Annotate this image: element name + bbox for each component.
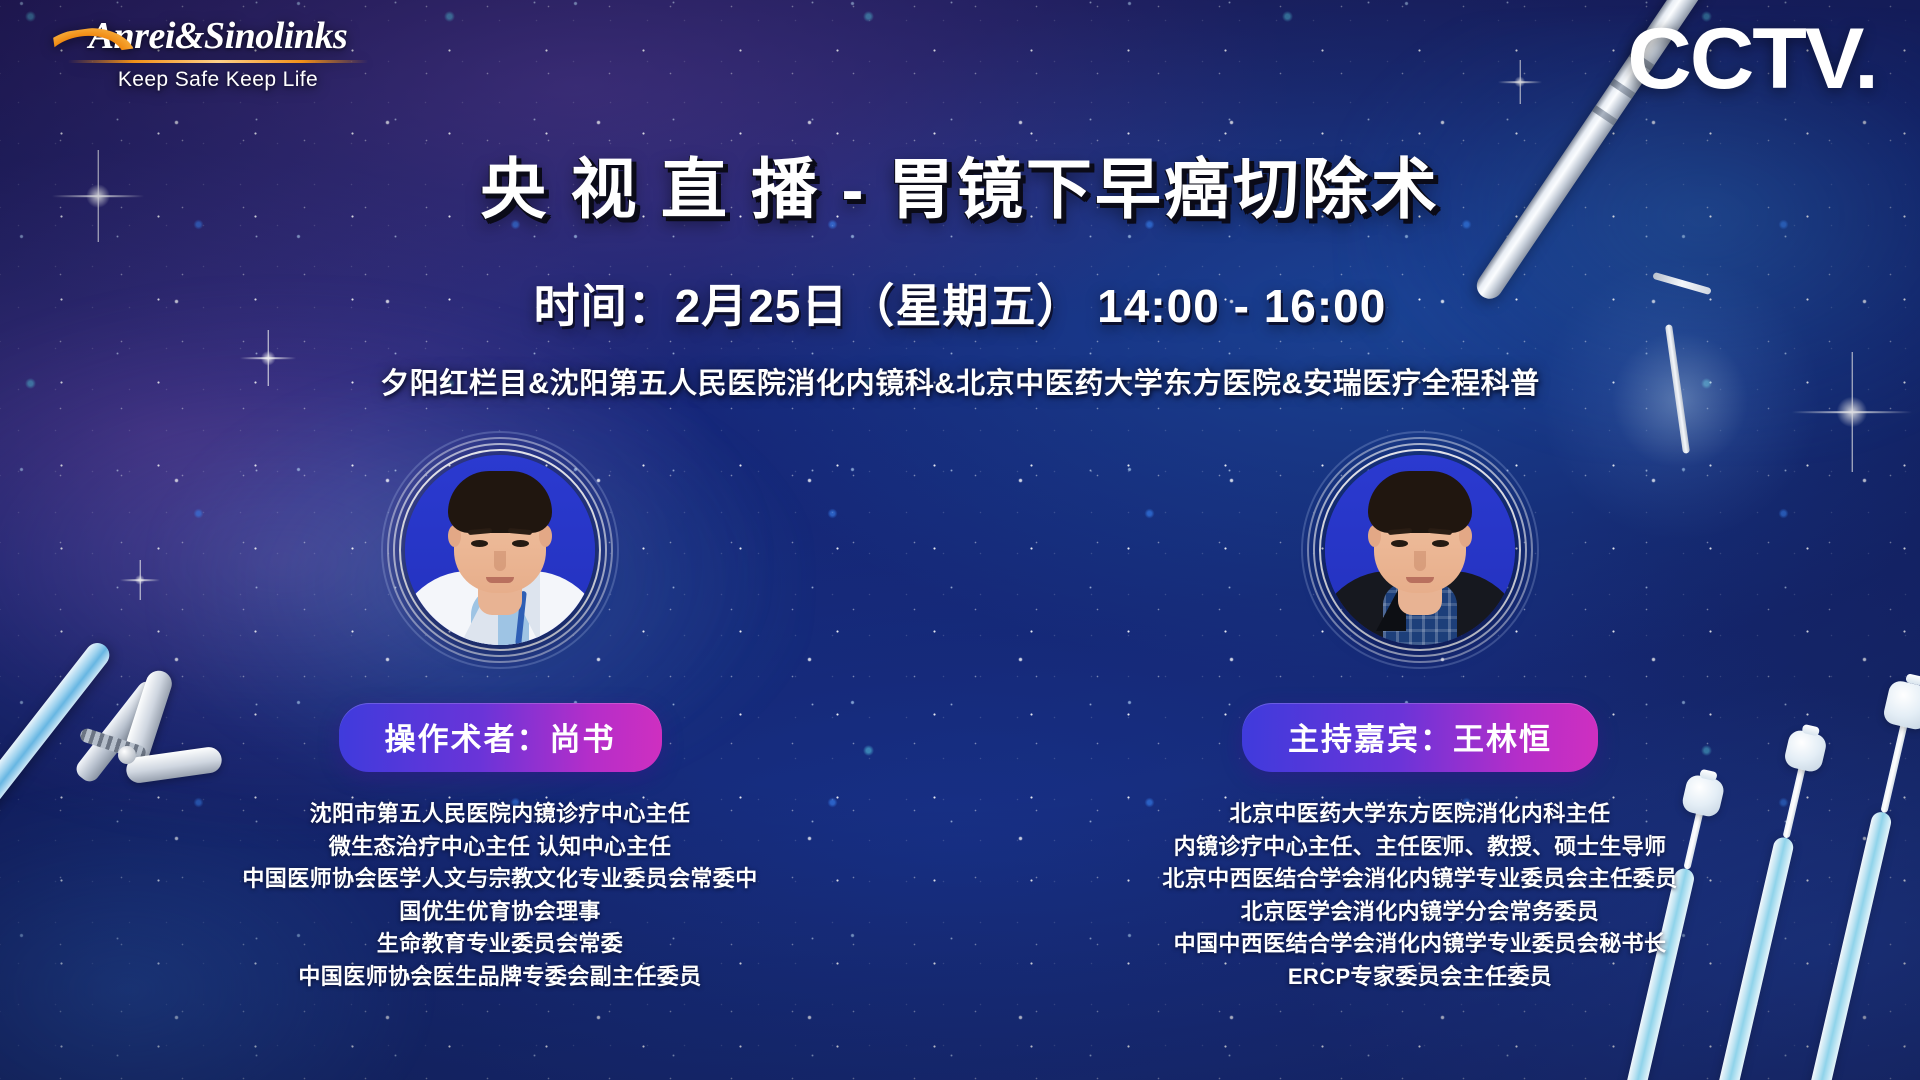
credential-item: 中国医师协会医生品牌专委会副主任委员 (120, 961, 880, 994)
speaker-credentials-list: 沈阳市第五人民医院内镜诊疗中心主任 微生态治疗中心主任 认知中心主任 中国医师协… (120, 798, 880, 993)
avatar (405, 455, 595, 645)
company-tagline: Keep Safe Keep Life (58, 68, 378, 92)
credential-item: 微生态治疗中心主任 认知中心主任 (120, 831, 880, 864)
portrait-host-dark-jacket (1325, 455, 1515, 645)
poster-canvas: Anrei&Sinolinks Keep Safe Keep Life CCTV… (0, 0, 1920, 1080)
credential-item: 北京中医药大学东方医院消化内科主任 (1040, 798, 1800, 831)
company-logo-wordmark: Anrei&Sinolinks (89, 14, 348, 58)
speaker-section: 操作术者：尚书 沈阳市第五人民医院内镜诊疗中心主任 微生态治疗中心主任 认知中心… (0, 455, 1920, 1075)
logo-divider (68, 60, 368, 63)
event-partners-text: 夕阳红栏目&沈阳第五人民医院消化内镜科&北京中医药大学东方医院&安瑞医疗全程科普 (0, 360, 1920, 402)
speaker-card-operator: 操作术者：尚书 沈阳市第五人民医院内镜诊疗中心主任 微生态治疗中心主任 认知中心… (120, 455, 880, 993)
cctv-wordmark-icon: CCTV. (1627, 16, 1877, 102)
speaker-card-host: 主持嘉宾：王林恒 北京中医药大学东方医院消化内科主任 内镜诊疗中心主任、主任医师… (1040, 455, 1800, 993)
speaker-credentials-list: 北京中医药大学东方医院消化内科主任 内镜诊疗中心主任、主任医师、教授、硕士生导师… (1040, 798, 1800, 993)
credential-item: 内镜诊疗中心主任、主任医师、教授、硕士生导师 (1040, 831, 1800, 864)
credential-item: 中国医师协会医学人文与宗教文化专业委员会常委中 (120, 863, 880, 896)
credential-item: 中国中西医结合学会消化内镜学专业委员会秘书长 (1040, 928, 1800, 961)
credential-item: 生命教育专业委员会常委 (120, 928, 880, 961)
speaker-role-badge: 操作术者：尚书 (339, 703, 662, 772)
event-time-text: 时间：2月25日（星期五） 14:00 - 16:00 (0, 270, 1920, 336)
credential-item: 北京医学会消化内镜学分会常务委员 (1040, 896, 1800, 929)
avatar (1325, 455, 1515, 645)
credential-item: 国优生优育协会理事 (120, 896, 880, 929)
company-logo: Anrei&Sinolinks Keep Safe Keep Life (58, 14, 378, 92)
credential-item: 北京中西医结合学会消化内镜学专业委员会主任委员 (1040, 863, 1800, 896)
page-title: 央 视 直 播 - 胃镜下早癌切除术 (0, 136, 1920, 232)
speaker-role-badge: 主持嘉宾：王林恒 (1242, 703, 1598, 772)
portrait-doctor-white-coat (405, 455, 595, 645)
credential-item: ERCP专家委员会主任委员 (1040, 961, 1800, 994)
credential-item: 沈阳市第五人民医院内镜诊疗中心主任 (120, 798, 880, 831)
